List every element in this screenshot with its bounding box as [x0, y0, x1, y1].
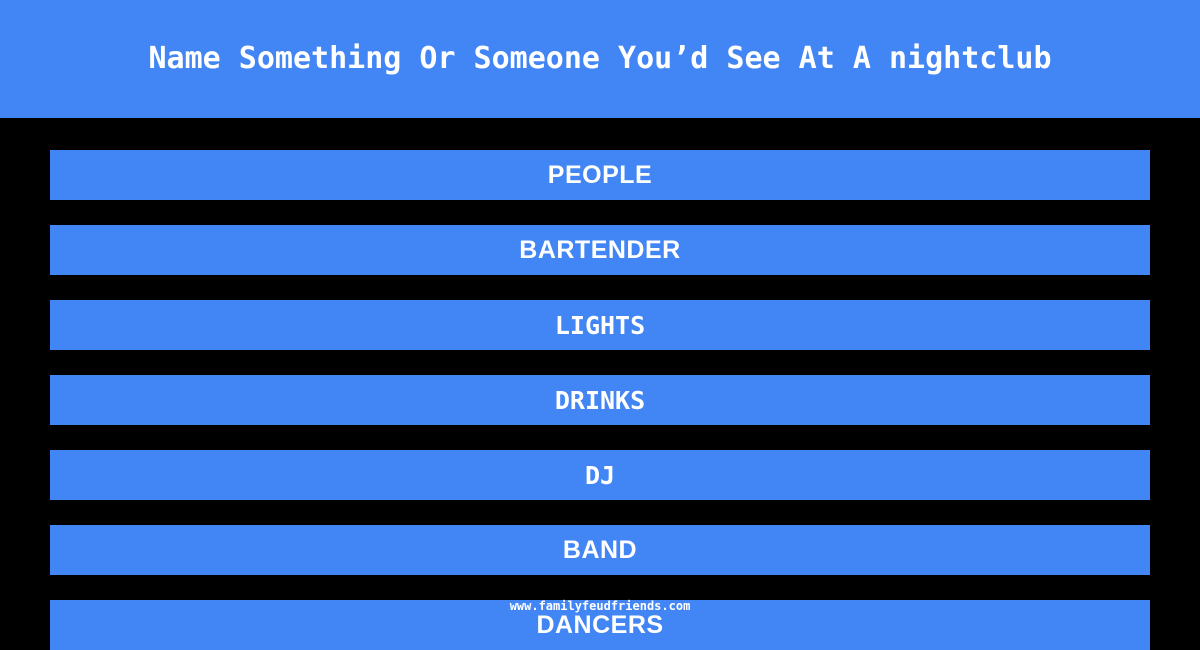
answer-label: LIGHTS: [555, 313, 645, 338]
answer-row-3[interactable]: LIGHTS: [50, 300, 1150, 350]
answer-row-6[interactable]: BAND: [50, 525, 1150, 575]
answer-row-5[interactable]: DJ: [50, 450, 1150, 500]
answer-label: DRINKS: [555, 388, 645, 413]
answer-row-1[interactable]: PEOPLE: [50, 150, 1150, 200]
answer-row-2[interactable]: BARTENDER: [50, 225, 1150, 275]
answer-row-4[interactable]: DRINKS: [50, 375, 1150, 425]
answer-label: BAND: [563, 538, 637, 563]
answer-row-7[interactable]: DANCERS: [50, 600, 1150, 650]
answer-label: DJ: [585, 463, 615, 488]
answer-board: PEOPLE BARTENDER LIGHTS DRINKS DJ BAND D…: [0, 118, 1200, 630]
answer-label: PEOPLE: [548, 163, 652, 188]
page-title: Name Something Or Someone You’d See At A…: [148, 44, 1051, 74]
answer-label: DANCERS: [536, 613, 663, 638]
answer-label: BARTENDER: [519, 238, 680, 263]
header-banner: Name Something Or Someone You’d See At A…: [0, 0, 1200, 118]
